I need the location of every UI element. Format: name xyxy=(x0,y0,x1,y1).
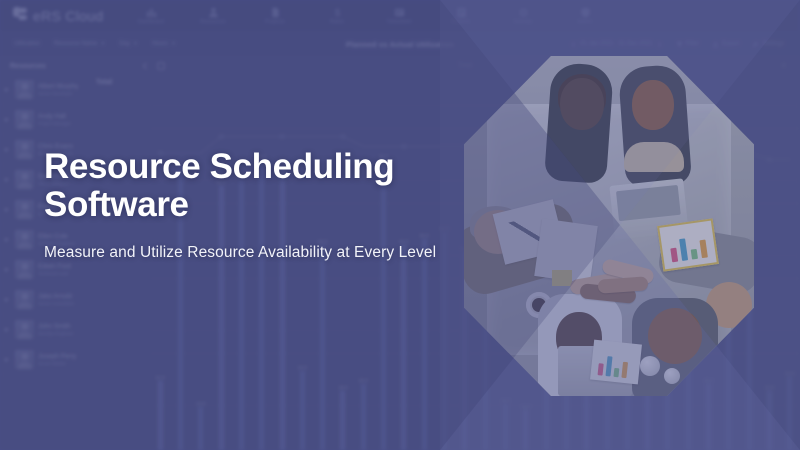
team-collaboration-photo xyxy=(464,56,754,396)
promo-slide: eRS Cloud DashboardResourcesProjects$Rat… xyxy=(0,0,800,450)
hero-subheadline: Measure and Utilize Resource Availabilit… xyxy=(44,242,444,263)
hero-headline: Resource Scheduling Software xyxy=(44,148,444,224)
hero-text-block: Resource Scheduling Software Measure and… xyxy=(44,148,444,263)
